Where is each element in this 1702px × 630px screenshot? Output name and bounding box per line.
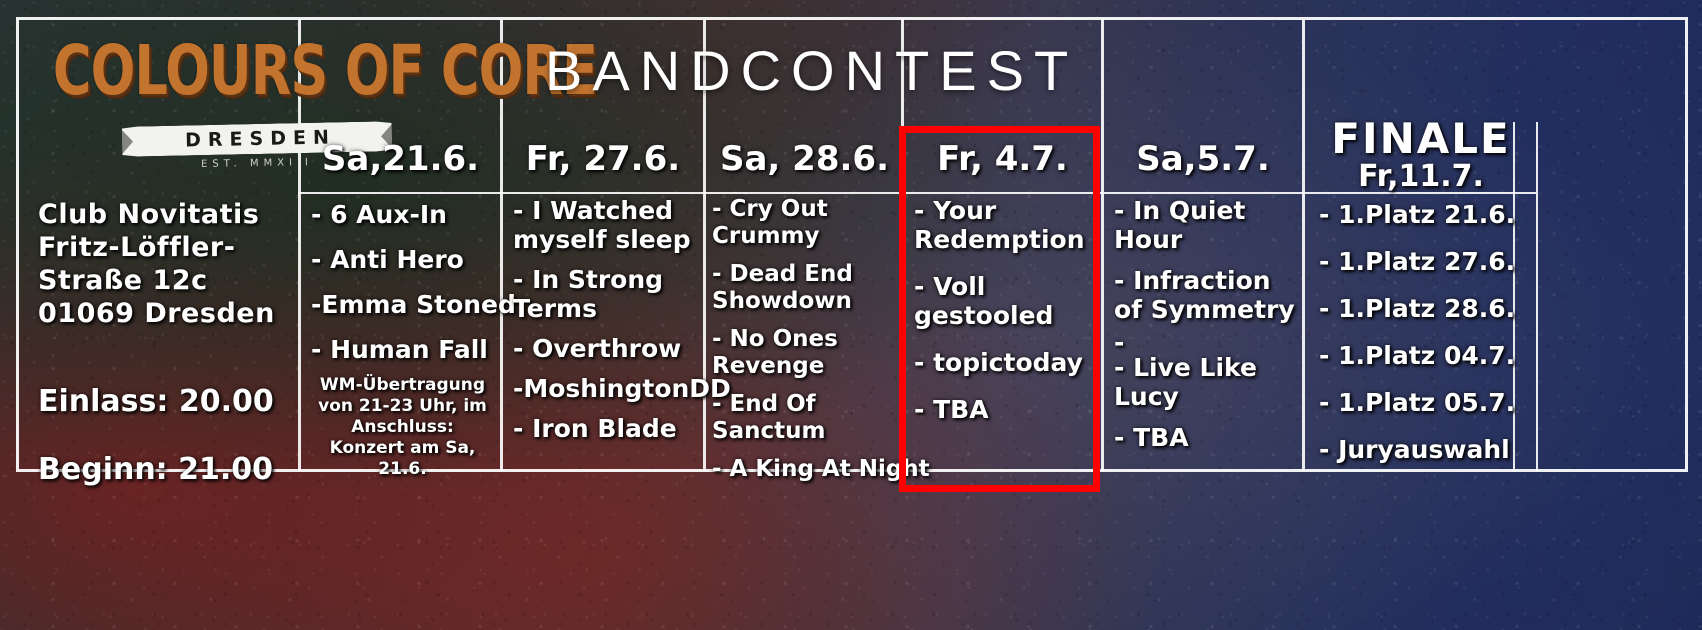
band-item: -Emma Stoned: [311, 290, 494, 319]
band-item: - TBA: [914, 395, 1095, 424]
date-column-header: Sa,5.7.: [1104, 139, 1302, 179]
band-item: - Anti Hero: [311, 245, 494, 274]
band-list: - Your Redemption - Voll gestooled - top…: [914, 196, 1095, 435]
date-column-header: Fr, 4.7.: [904, 139, 1101, 179]
date-column-sa-28-6[interactable]: Sa, 28.6. - Cry Out Crummy - Dead End Sh…: [706, 19, 903, 471]
venue-street-2: Straße 12c: [38, 264, 296, 297]
band-item: - In Strong Terms: [513, 265, 697, 323]
band-item: - Dead End Showdown: [712, 261, 897, 315]
date-column-sa-21-6[interactable]: Sa,21.6. - 6 Aux-In - Anti Hero -Emma St…: [301, 19, 500, 471]
band-item: - Voll gestooled: [914, 272, 1095, 330]
band-list: - 1.Platz 21.6. - 1.Platz 27.6. - 1.Plat…: [1319, 200, 1531, 475]
venue-start-time: Beginn: 21.00: [38, 436, 296, 504]
band-item: - Overthrow: [513, 334, 697, 363]
band-item: - Juryauswahl: [1319, 435, 1531, 464]
band-list: - 6 Aux-In - Anti Hero -Emma Stoned - Hu…: [311, 200, 494, 480]
band-item: - A King At Night: [712, 456, 897, 483]
band-item: - 1.Platz 28.6.: [1319, 294, 1531, 323]
venue-street-1: Fritz-Löffler-: [38, 231, 296, 264]
venue-info-block: Club Novitatis Fritz-Löffler- Straße 12c…: [38, 198, 296, 504]
venue-times: Einlass: 20.00 Beginn: 21.00: [38, 368, 296, 504]
band-item: - 1.Platz 05.7.: [1319, 388, 1531, 417]
date-column-finale[interactable]: FINALE Fr,11.7. - 1.Platz 21.6. - 1.Plat…: [1305, 19, 1537, 471]
date-column-sa-5-7[interactable]: Sa,5.7. - In Quiet Hour - Infraction of …: [1104, 19, 1302, 471]
date-column-fr-4-7[interactable]: Fr, 4.7. - Your Redemption - Voll gestoo…: [904, 19, 1101, 471]
date-column-header: Sa, 28.6.: [706, 139, 903, 179]
band-item: - 1.Platz 04.7.: [1319, 341, 1531, 370]
finale-header: FINALE: [1305, 114, 1537, 163]
band-item: - I Watched myself sleep: [513, 196, 697, 254]
band-item: - Your Redemption: [914, 196, 1095, 254]
date-column-header: Fr, 27.6.: [503, 139, 703, 179]
band-item: - No Ones Revenge: [712, 326, 897, 380]
band-list: - I Watched myself sleep - In Strong Ter…: [513, 196, 697, 454]
band-item: - 1.Platz 21.6.: [1319, 200, 1531, 229]
band-item: - Iron Blade: [513, 414, 697, 443]
finale-date: Fr,11.7.: [1305, 159, 1537, 194]
venue-city: 01069 Dresden: [38, 297, 296, 330]
band-item: -MoshingtonDD: [513, 374, 697, 403]
band-list: - Cry Out Crummy - Dead End Showdown - N…: [712, 196, 897, 494]
column-note: WM-Übertragung von 21-23 Uhr, im Anschlu…: [311, 375, 494, 480]
band-item: - 1.Platz 27.6.: [1319, 247, 1531, 276]
poster-canvas: COLOURS OF CORE DRESDEN EST. MMXIII BAND…: [0, 0, 1702, 630]
band-item: - TBA: [1114, 423, 1296, 452]
band-item: - Live Like Lucy: [1114, 353, 1296, 411]
venue-name: Club Novitatis: [38, 198, 296, 231]
band-item: -: [1114, 335, 1296, 351]
band-item: - 6 Aux-In: [311, 200, 494, 229]
band-item: - Infraction of Symmetry: [1114, 266, 1296, 324]
band-item: - End Of Sanctum: [712, 391, 897, 445]
band-item: - Cry Out Crummy: [712, 196, 897, 250]
date-column-header: Sa,21.6.: [301, 139, 500, 179]
band-list: - In Quiet Hour - Infraction of Symmetry…: [1114, 196, 1296, 463]
band-item: - topictoday: [914, 348, 1095, 377]
band-item: - Human Fall: [311, 335, 494, 364]
date-column-fr-27-6[interactable]: Fr, 27.6. - I Watched myself sleep - In …: [503, 19, 703, 471]
venue-doors-time: Einlass: 20.00: [38, 368, 296, 436]
band-item: - In Quiet Hour: [1114, 196, 1296, 254]
